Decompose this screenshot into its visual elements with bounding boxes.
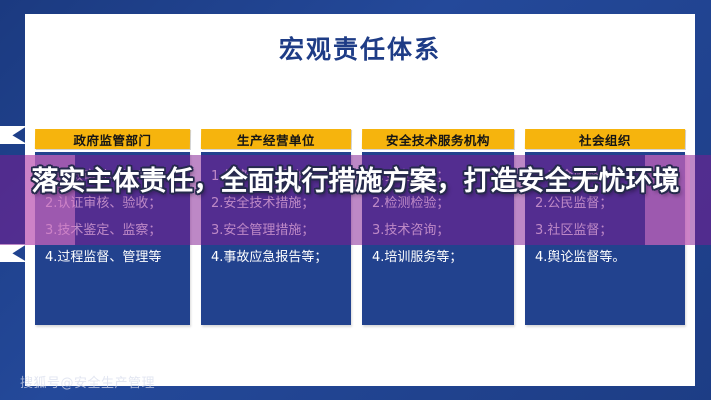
- column-safety-service-agency[interactable]: 安全技术服务机构 1.安全评价； 2.检测检验； 3.技术咨询； 4.培训服务等…: [362, 129, 514, 329]
- column-production-unit[interactable]: 生产经营单位 1.生产经营活动； 2.安全技术措施； 3.安全管理措施； 4.事…: [201, 129, 351, 329]
- left-edge-notch-bottom: [0, 244, 27, 262]
- column-government-regulator[interactable]: 政府监管部门 1.行政审批、许可； 2.认证审核、验收； 3.技术鉴定、监察； …: [35, 129, 190, 329]
- list-item: 3.技术咨询；: [368, 217, 508, 244]
- column-header: 生产经营单位: [201, 129, 351, 149]
- column-header: 社会组织: [525, 129, 685, 149]
- list-item: 4.事故应急报告等；: [207, 244, 345, 271]
- left-edge-notch-top: [0, 126, 27, 144]
- column-header: 安全技术服务机构: [362, 129, 514, 149]
- list-item: 4.培训服务等；: [368, 244, 508, 271]
- watermark-label: 搜狐号@安全生产管理: [20, 372, 155, 391]
- list-item: 3.技术鉴定、监察；: [41, 217, 184, 244]
- list-item: 4.过程监督、管理等: [41, 244, 184, 271]
- responsibility-columns: 政府监管部门 1.行政审批、许可； 2.认证审核、验收； 3.技术鉴定、监察； …: [35, 129, 685, 329]
- slide-frame: 宏观责任体系 政府监管部门 1.行政审批、许可； 2.认证审核、验收； 3.技术…: [0, 0, 711, 400]
- column-header: 政府监管部门: [35, 129, 190, 149]
- page-title: 宏观责任体系: [25, 30, 695, 66]
- overlay-headline: 落实主体责任，全面执行措施方案，打造安全无忧环境: [0, 166, 711, 198]
- list-item: 4.舆论监督等。: [531, 244, 679, 271]
- slide-canvas: 宏观责任体系 政府监管部门 1.行政审批、许可； 2.认证审核、验收； 3.技术…: [25, 14, 695, 386]
- list-item: 3.安全管理措施；: [207, 217, 345, 244]
- list-item: 3.社区监督；: [531, 217, 679, 244]
- column-social-organization[interactable]: 社会组织 1.工会监督； 2.公民监督； 3.社区监督； 4.舆论监督等。: [525, 129, 685, 329]
